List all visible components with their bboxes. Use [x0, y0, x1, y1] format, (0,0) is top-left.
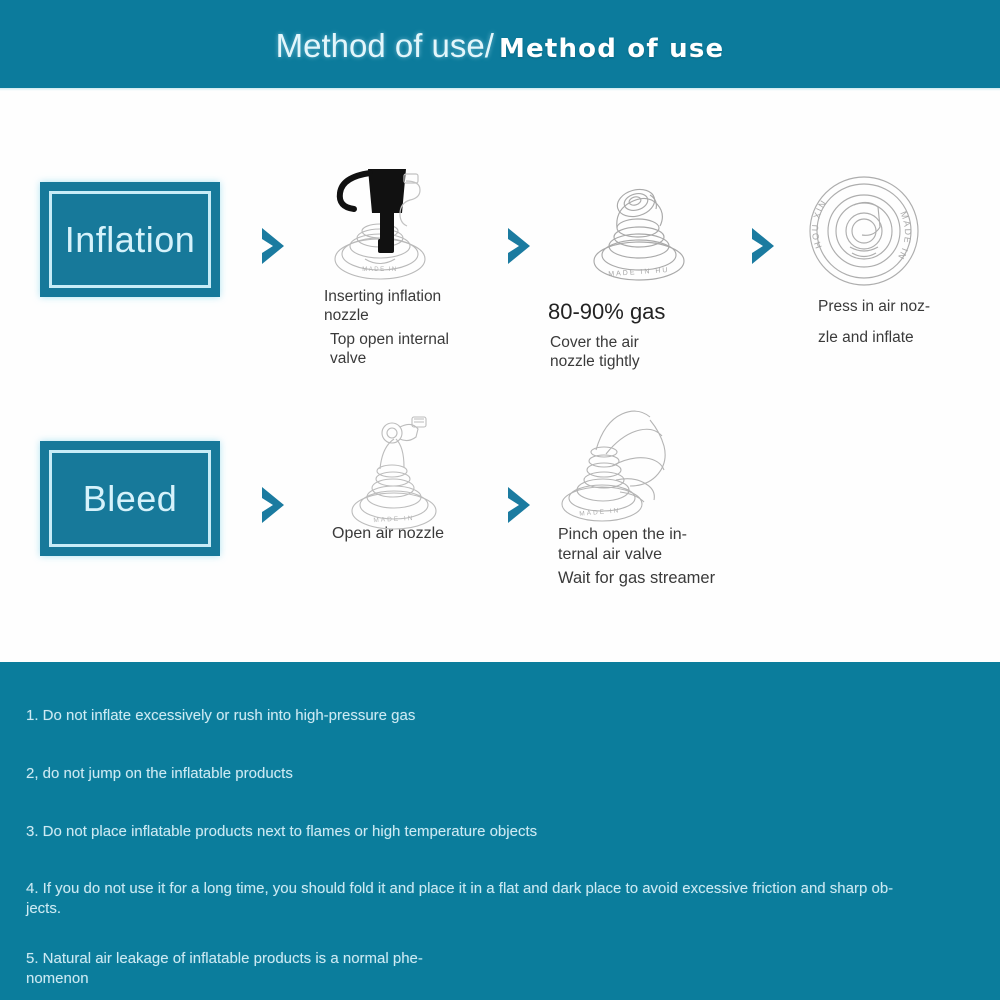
chevron-right-icon: [746, 223, 782, 269]
bleed-label-text: Bleed: [83, 481, 178, 517]
svg-text:MADE IN: MADE IN: [895, 210, 912, 262]
step-caption: Inserting inflation nozzle: [324, 288, 441, 326]
header-title-group: Method of use/ Method of use: [276, 27, 725, 65]
page-title-secondary: Method of use: [499, 34, 724, 64]
notice-item: 1. Do not inflate excessively or rush in…: [26, 706, 976, 726]
pump-nozzle-on-valve-icon: MADE IN: [318, 151, 448, 286]
chevron-right-icon: [256, 482, 292, 528]
step-headline: 80-90% gas: [548, 299, 665, 325]
page-header: Method of use/ Method of use: [0, 0, 1000, 88]
notice-item: 5. Natural air leakage of inflatable pro…: [26, 949, 976, 989]
inflation-label-text: Inflation: [65, 222, 196, 258]
step-caption: Cover the air nozzle tightly: [550, 334, 640, 372]
chevron-right-icon: [502, 482, 538, 528]
step-caption-secondary: Wait for gas streamer: [558, 568, 715, 588]
svg-text:HOU XING: HOU XING: [802, 169, 829, 250]
bleed-label-box: Bleed: [40, 441, 220, 556]
step-caption: Open air nozzle: [332, 524, 444, 544]
notice-item: 4. If you do not use it for a long time,…: [26, 879, 976, 919]
step-caption-secondary: Top open internal valve: [330, 331, 449, 369]
notice-panel: 1. Do not inflate excessively or rush in…: [0, 662, 1000, 1000]
step-caption: Press in air noz- zle and inflate: [818, 291, 930, 353]
valve-closed-cap-icon: MADE IN HU: [572, 173, 707, 288]
notice-item: 2, do not jump on the inflatable product…: [26, 764, 976, 784]
svg-text:MADE IN: MADE IN: [373, 515, 414, 524]
chevron-right-icon: [502, 223, 538, 269]
svg-text:MADE IN HU: MADE IN HU: [608, 267, 670, 278]
svg-text:MADE IN: MADE IN: [362, 267, 398, 273]
chevron-right-icon: [256, 223, 292, 269]
hand-pinching-valve-icon: MADE IN: [550, 406, 685, 531]
inflation-label-box: Inflation: [40, 182, 220, 297]
step-caption: Pinch open the in- ternal air valve: [558, 525, 687, 564]
page-title-primary: Method of use/: [276, 27, 494, 65]
valve-top-view-icon: HOU XING MADE IN: [802, 169, 927, 294]
valve-open-cap-icon: MADE IN: [340, 411, 450, 536]
steps-area: Inflation MADE IN: [0, 91, 1000, 662]
notice-item: 3. Do not place inflatable products next…: [26, 822, 976, 842]
